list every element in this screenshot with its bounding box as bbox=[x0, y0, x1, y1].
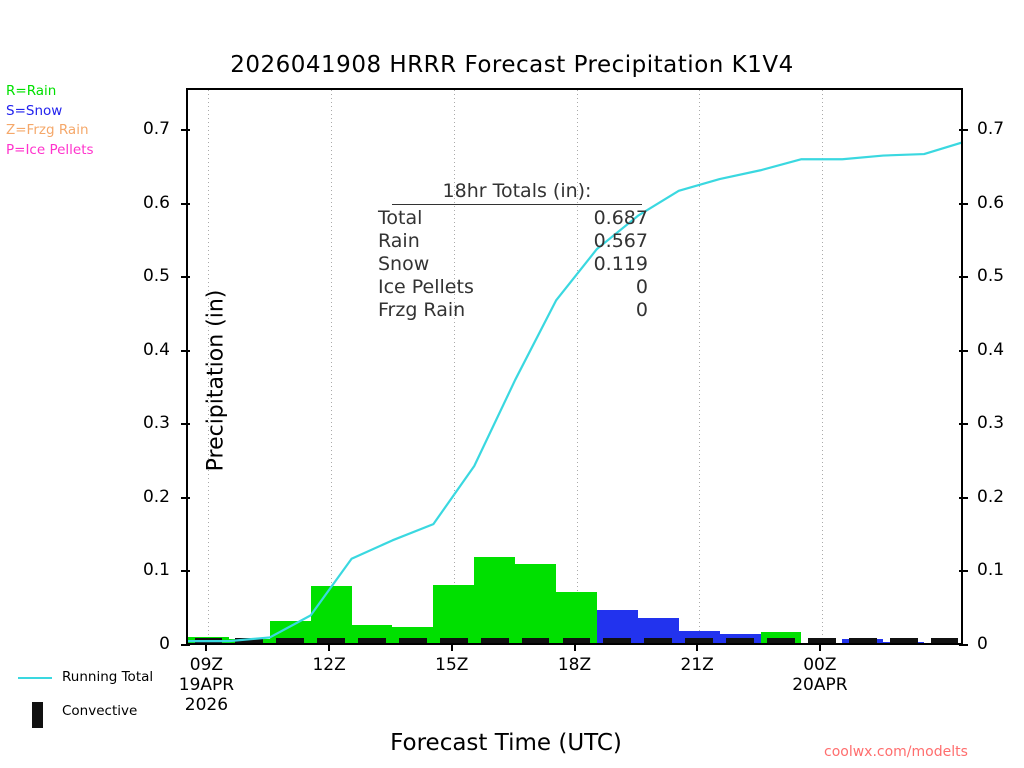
totals-row: Total0.687 bbox=[378, 207, 648, 230]
x-axis-label: 18Z bbox=[515, 655, 635, 675]
y-tick-left bbox=[181, 350, 190, 352]
totals-box: 18hr Totals (in):Total0.687Rain0.567Snow… bbox=[378, 180, 648, 322]
y-tick-right bbox=[959, 276, 968, 278]
running-total-line bbox=[188, 90, 961, 643]
y-tick-left bbox=[181, 423, 190, 425]
key-running-total-label: Running Total bbox=[62, 669, 153, 685]
plot-inner: RRRRRRRRRRSSSSRSS bbox=[188, 90, 961, 643]
y-axis-label-left: 0.1 bbox=[110, 560, 170, 580]
x-tick bbox=[328, 643, 330, 651]
y-tick-right bbox=[959, 203, 968, 205]
x-axis-time: 12Z bbox=[312, 655, 345, 675]
x-tick bbox=[819, 643, 821, 651]
convective-swatch bbox=[32, 702, 43, 728]
totals-row-value: 0 bbox=[636, 276, 648, 299]
y-axis-label-left: 0.2 bbox=[110, 487, 170, 507]
x-axis-time: 00Z bbox=[803, 655, 836, 675]
y-axis-label-right: 0 bbox=[977, 634, 1024, 654]
y-tick-right bbox=[959, 423, 968, 425]
x-tick bbox=[205, 643, 207, 651]
totals-row-label: Total bbox=[378, 207, 422, 230]
y-axis-label-left: 0.7 bbox=[110, 119, 170, 139]
totals-row-value: 0.119 bbox=[594, 253, 648, 276]
precipitation-forecast-chart: 2026041908 HRRR Forecast Precipitation K… bbox=[0, 0, 1024, 768]
x-axis-title: Forecast Time (UTC) bbox=[186, 730, 826, 756]
y-tick-left bbox=[181, 570, 190, 572]
key-running-total: Running Total bbox=[14, 668, 204, 702]
y-tick-left bbox=[181, 129, 190, 131]
totals-row: Snow0.119 bbox=[378, 253, 648, 276]
totals-heading: 18hr Totals (in): bbox=[392, 180, 642, 205]
y-axis-label-right: 0.2 bbox=[977, 487, 1024, 507]
x-axis-label: 15Z bbox=[392, 655, 512, 675]
y-tick-right bbox=[959, 129, 968, 131]
x-axis-time: 18Z bbox=[558, 655, 591, 675]
plot-area: RRRRRRRRRRSSSSRSS Precipitation (in) 18h… bbox=[186, 88, 963, 645]
totals-row-label: Frzg Rain bbox=[378, 299, 465, 322]
x-axis-time: 21Z bbox=[681, 655, 714, 675]
x-axis-date: 20APR bbox=[760, 675, 880, 695]
y-tick-right bbox=[959, 350, 968, 352]
running-total-line-swatch bbox=[18, 677, 52, 679]
y-axis-label-right: 0.1 bbox=[977, 560, 1024, 580]
y-axis-label-left: 0.5 bbox=[110, 266, 170, 286]
y-axis-label-left: 0 bbox=[110, 634, 170, 654]
totals-row: Ice Pellets0 bbox=[378, 276, 648, 299]
y-tick-left bbox=[181, 497, 190, 499]
x-tick bbox=[451, 643, 453, 651]
y-tick-right bbox=[959, 570, 968, 572]
totals-row-value: 0.687 bbox=[594, 207, 648, 230]
y-axis-label-right: 0.4 bbox=[977, 340, 1024, 360]
y-tick-left bbox=[181, 203, 190, 205]
y-axis-label-left: 0.3 bbox=[110, 413, 170, 433]
legend-ice-pellets: P=Ice Pellets bbox=[6, 141, 176, 161]
page-title: 2026041908 HRRR Forecast Precipitation K… bbox=[0, 52, 1024, 78]
chart-key: Running Total Convective bbox=[14, 668, 204, 736]
y-tick-left bbox=[181, 644, 190, 646]
y-axis-label-right: 0.5 bbox=[977, 266, 1024, 286]
totals-row-label: Ice Pellets bbox=[378, 276, 474, 299]
x-axis-label: 00Z20APR bbox=[760, 655, 880, 695]
x-axis-label: 12Z bbox=[269, 655, 389, 675]
y-tick-right bbox=[959, 497, 968, 499]
y-axis-label-left: 0.4 bbox=[110, 340, 170, 360]
x-tick bbox=[574, 643, 576, 651]
totals-row-label: Rain bbox=[378, 230, 420, 253]
credit-watermark: coolwx.com/modelts bbox=[824, 744, 968, 760]
y-axis-label-right: 0.6 bbox=[977, 193, 1024, 213]
x-axis-time: 15Z bbox=[435, 655, 468, 675]
y-tick-right bbox=[959, 644, 968, 646]
legend-rain: R=Rain bbox=[6, 82, 176, 102]
totals-row: Frzg Rain0 bbox=[378, 299, 648, 322]
totals-row-value: 0 bbox=[636, 299, 648, 322]
x-axis-label: 21Z bbox=[637, 655, 757, 675]
x-tick bbox=[696, 643, 698, 651]
y-axis-label-right: 0.7 bbox=[977, 119, 1024, 139]
totals-row-value: 0.567 bbox=[594, 230, 648, 253]
y-axis-title: Precipitation (in) bbox=[204, 201, 229, 561]
y-axis-label-left: 0.6 bbox=[110, 193, 170, 213]
totals-row-label: Snow bbox=[378, 253, 429, 276]
key-convective-label: Convective bbox=[62, 703, 137, 719]
totals-row: Rain0.567 bbox=[378, 230, 648, 253]
y-tick-left bbox=[181, 276, 190, 278]
key-convective: Convective bbox=[14, 702, 204, 736]
y-axis-label-right: 0.3 bbox=[977, 413, 1024, 433]
